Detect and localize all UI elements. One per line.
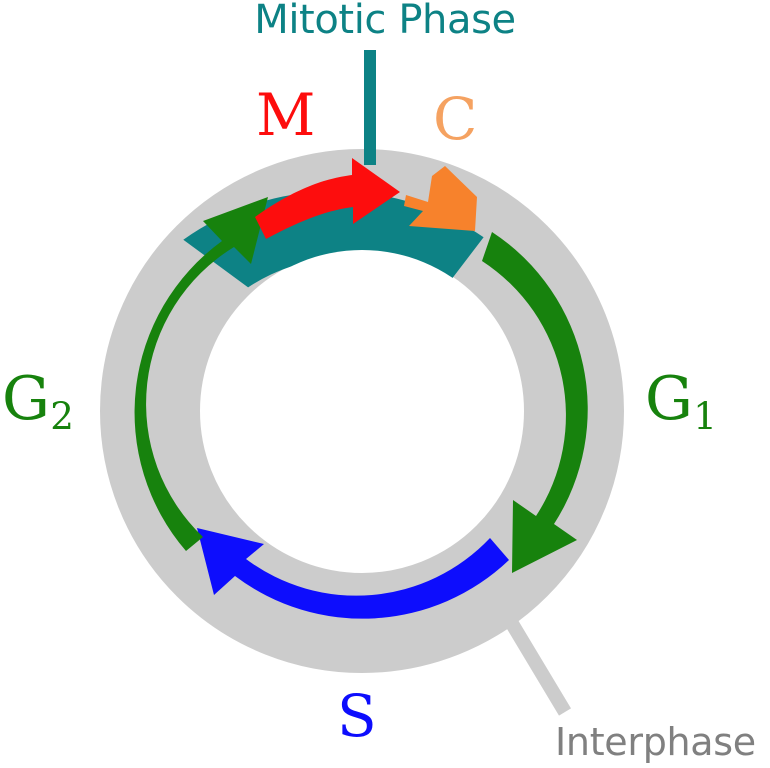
label-interphase: Interphase bbox=[555, 723, 756, 761]
label-gap-two: G2 bbox=[2, 369, 74, 429]
ring-inner-hole bbox=[201, 250, 523, 572]
mitotic-phase-pointer bbox=[364, 50, 376, 165]
label-cytokinesis: C bbox=[433, 90, 477, 148]
label-mitosis: M bbox=[256, 86, 315, 144]
label-gap-one-letter: G bbox=[645, 364, 693, 434]
label-gap-two-subscript: 2 bbox=[50, 394, 74, 438]
label-synthesis: S bbox=[337, 687, 377, 745]
label-mitotic-phase: Mitotic Phase bbox=[254, 0, 516, 40]
label-gap-one: G1 bbox=[645, 369, 717, 429]
interphase-leader-line bbox=[505, 612, 565, 712]
label-gap-one-subscript: 1 bbox=[693, 394, 717, 438]
cell-cycle-diagram: Mitotic Phase M C G2 G1 S Interphase bbox=[0, 0, 770, 768]
label-gap-two-letter: G bbox=[2, 364, 50, 434]
